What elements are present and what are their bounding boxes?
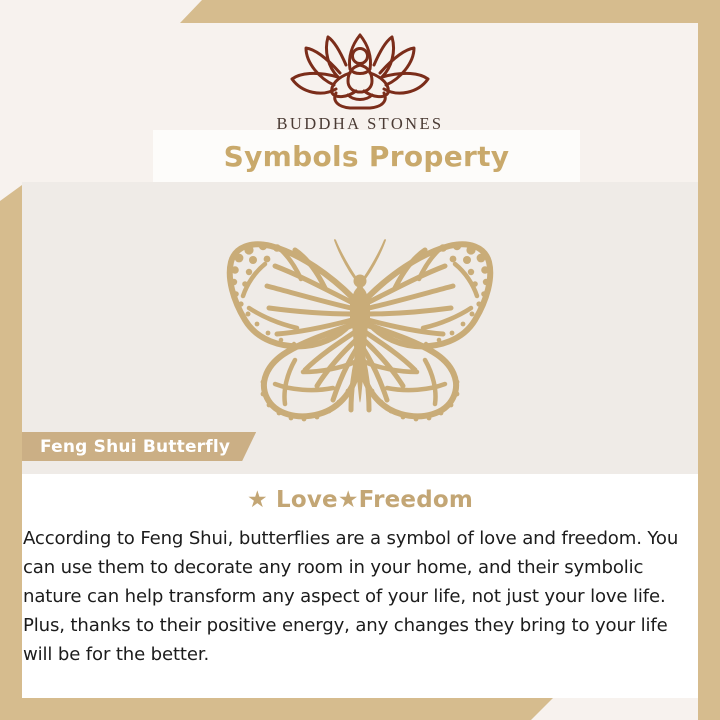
lotus-meditation-figure-icon (276, 31, 444, 113)
section-tab-feng-shui-butterfly: Feng Shui Butterfly (22, 432, 256, 461)
title-banner: Symbols Property (153, 130, 580, 182)
section-tab-label: Feng Shui Butterfly (40, 437, 230, 457)
promo-infographic-page: BUDDHA STONES Symbols Property (0, 0, 720, 720)
frame-accent-left (0, 185, 22, 720)
brand-logo: BUDDHA STONES (22, 23, 698, 134)
frame-accent-right (698, 0, 720, 720)
page-title: Symbols Property (224, 140, 510, 173)
frame-accent-top (180, 0, 720, 23)
frame-accent-bottom (0, 698, 553, 720)
description-panel: ★ Love★Freedom According to Feng Shui, b… (22, 474, 698, 698)
description-body-text: According to Feng Shui, butterflies are … (22, 524, 698, 669)
content-canvas: BUDDHA STONES Symbols Property (22, 23, 698, 698)
butterfly-icon (205, 228, 515, 428)
subheading-love-freedom: ★ Love★Freedom (22, 487, 698, 513)
illustration-panel (22, 182, 698, 474)
